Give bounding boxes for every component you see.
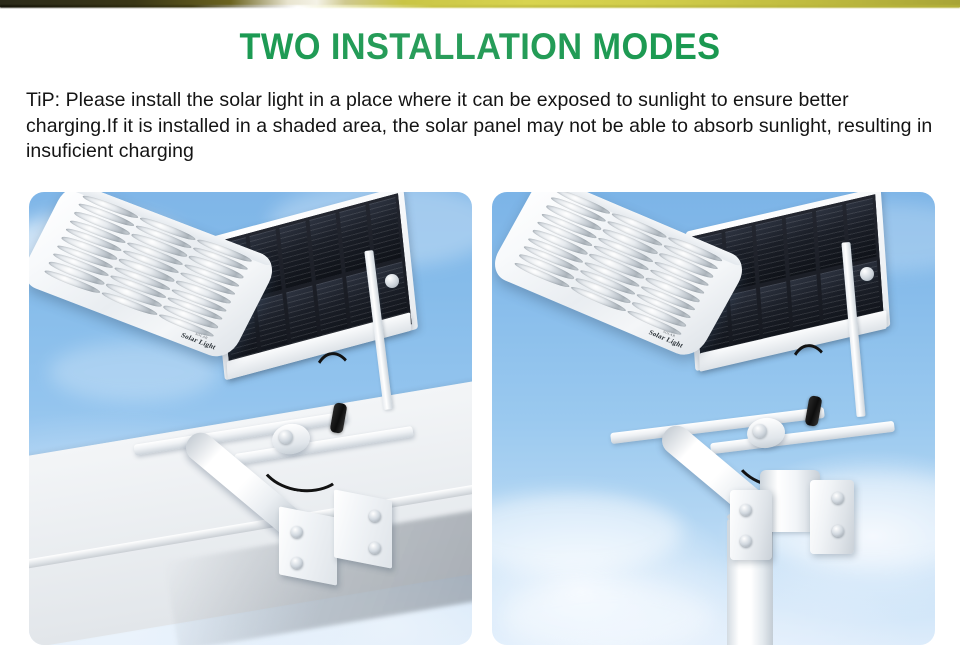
solar-cell (309, 213, 341, 280)
mount-bolt (369, 510, 381, 522)
clamp-bolt (832, 525, 844, 537)
top-decorative-strip-highlight (0, 5, 960, 8)
mount-bolt (369, 542, 381, 554)
clamp-bolt (740, 535, 752, 547)
solar-cell (786, 212, 816, 277)
solar-cell (816, 205, 846, 270)
solar-cell (756, 219, 786, 284)
panel-tilt-knob (385, 274, 399, 288)
installation-photo-row: SOLAR Solar Light (29, 192, 935, 645)
installation-photo-wall-mount: SOLAR Solar Light (29, 192, 472, 645)
solar-cell (369, 197, 401, 264)
clamp-bolt (740, 504, 752, 516)
clamp-bolt (832, 492, 844, 504)
wall-mount-plate-right (334, 489, 392, 568)
pole-clamp-plate-left (730, 490, 772, 560)
page-title: TWO INSTALLATION MODES (34, 26, 927, 68)
solar-cell (279, 221, 311, 288)
installation-photo-pole-mount: SOLAR Solar Light (492, 192, 935, 645)
product-infographic-page: TWO INSTALLATION MODES TiP: Please insta… (0, 0, 960, 670)
mount-bolt (291, 526, 303, 538)
tip-paragraph: TiP: Please install the solar light in a… (26, 88, 938, 165)
pole-clamp-plate-right (810, 480, 854, 554)
wall-mount-plate-left (279, 506, 337, 585)
mount-bolt (291, 557, 303, 569)
panel-tilt-knob (860, 267, 874, 281)
